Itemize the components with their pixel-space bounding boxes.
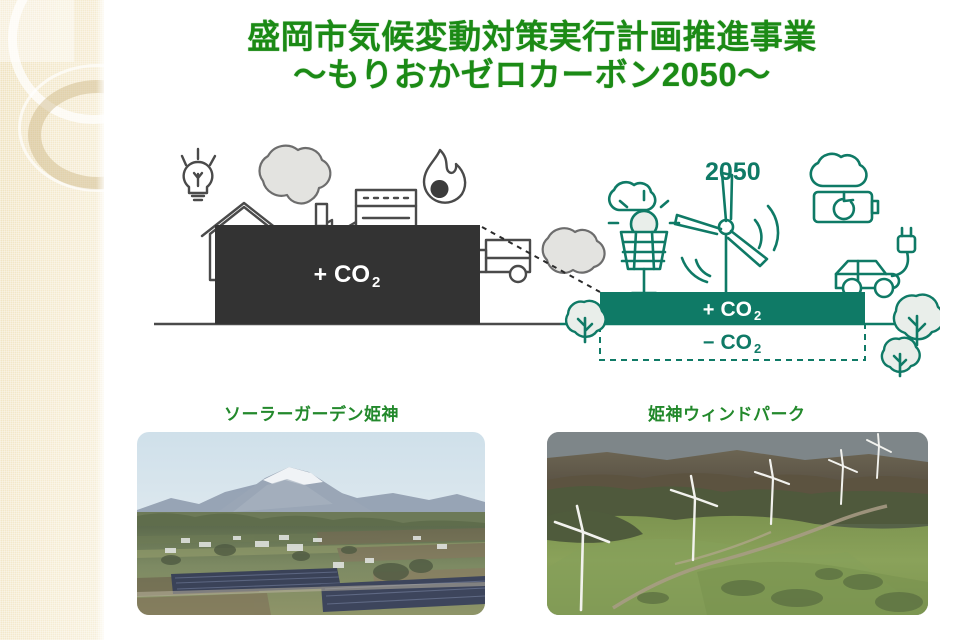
carbon-neutral-infographic: .gl { fill:none; stroke:#4a4a4a; stroke-… [140,128,940,388]
smoke-cloud-icon [260,146,331,204]
title-line-1: 盛岡市気候変動対策実行計画推進事業 [104,18,960,56]
theme-side-band [0,0,104,640]
electric-car-icon [836,228,915,297]
himekami-wind-park-photo [547,432,928,615]
tree-icon [566,301,605,342]
solar-garden-himekami-photo [137,432,485,615]
negative-co2-label: −CO2 [703,331,761,356]
title-line-2: 〜もりおかゼロカーボン2050〜 [104,56,960,94]
wind-turbine-icon [675,173,778,300]
tree-icon [882,338,920,376]
slide-title: 盛岡市気候変動対策実行計画推進事業 〜もりおかゼロカーボン2050〜 [104,18,960,95]
caption-solar-garden: ソーラーガーデン姫神 [224,400,399,425]
lightbulb-icon [182,149,215,200]
cloud-icon [811,154,867,186]
solar-panel-icon [609,191,679,298]
flame-icon [424,150,465,203]
cloud-icon [609,182,655,210]
battery-recycle-icon [814,192,878,222]
caption-wind-park: 姫神ウィンドパーク [648,400,806,425]
